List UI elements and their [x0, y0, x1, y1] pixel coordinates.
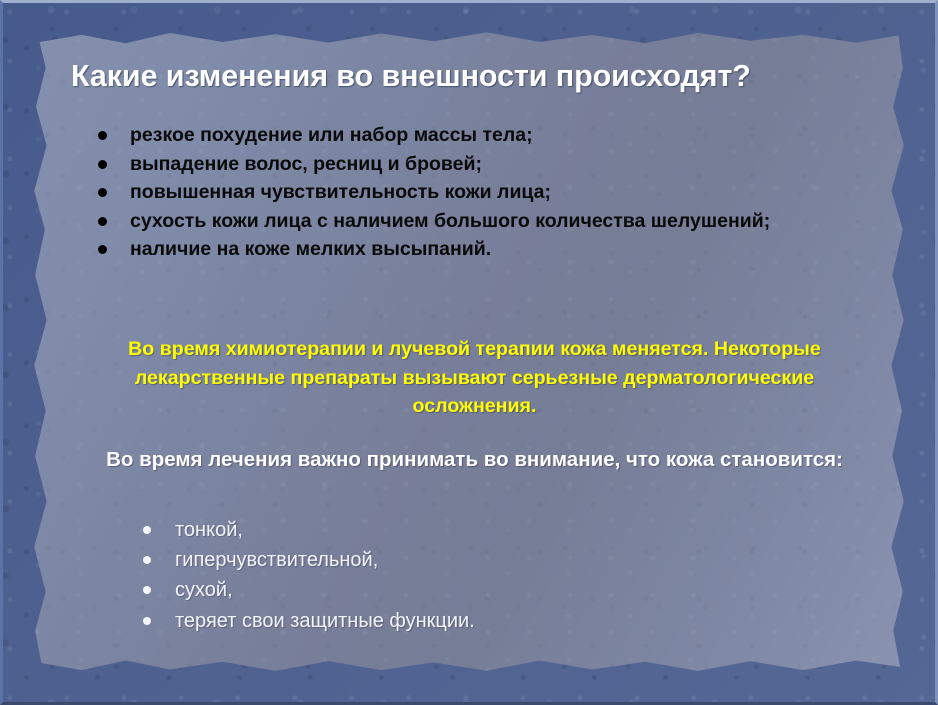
list-item-label: теряет свои защитные функции. — [175, 610, 475, 632]
black-dot-bullet-icon — [98, 245, 107, 254]
slide-content: Какие изменения во внешности происходят?… — [3, 3, 935, 702]
list-item: тонкой, — [141, 515, 741, 545]
list-item: повышенная чувствительность кожи лица; — [96, 178, 886, 207]
list-item-label: тонкой, — [175, 519, 243, 541]
slide-title: Какие изменения во внешности происходят? — [71, 59, 891, 94]
list-item: выпадение волос, ресниц и бровей; — [96, 150, 886, 179]
white-dot-bullet-icon — [143, 556, 151, 564]
list-item: резкое похудение или набор массы тела; — [96, 121, 886, 150]
skin-condition-bullet-list: тонкой, гиперчувствительной, сухой, теря… — [141, 515, 741, 636]
symptom-bullet-list: резкое похудение или набор массы тела; в… — [96, 121, 886, 264]
list-item: теряет свои защитные функции. — [141, 606, 741, 636]
list-item: сухой, — [141, 575, 741, 605]
list-item-label: сухость кожи лица с наличием большого ко… — [130, 210, 770, 232]
list-item-label: выпадение волос, ресниц и бровей; — [130, 153, 482, 175]
list-item-label: резкое похудение или набор массы тела; — [130, 124, 533, 146]
list-item: наличие на коже мелких высыпаний. — [96, 235, 886, 264]
list-item: сухость кожи лица с наличием большого ко… — [96, 207, 886, 236]
black-dot-bullet-icon — [98, 160, 107, 169]
black-dot-bullet-icon — [98, 131, 107, 140]
white-dot-bullet-icon — [143, 617, 151, 625]
list-item: гиперчувствительной, — [141, 545, 741, 575]
black-dot-bullet-icon — [98, 217, 107, 226]
warning-emphasis-paragraph: Во время химиотерапии и лучевой терапии … — [77, 335, 872, 421]
white-dot-bullet-icon — [143, 526, 151, 534]
presentation-slide: Какие изменения во внешности происходят?… — [0, 0, 938, 705]
white-dot-bullet-icon — [143, 586, 151, 594]
treatment-intro-paragraph: Во время лечения важно принимать во вним… — [77, 444, 872, 475]
list-item-label: повышенная чувствительность кожи лица; — [130, 181, 551, 203]
list-item-label: гиперчувствительной, — [175, 549, 378, 571]
list-item-label: сухой, — [175, 579, 233, 601]
black-dot-bullet-icon — [98, 188, 107, 197]
list-item-label: наличие на коже мелких высыпаний. — [130, 238, 491, 260]
